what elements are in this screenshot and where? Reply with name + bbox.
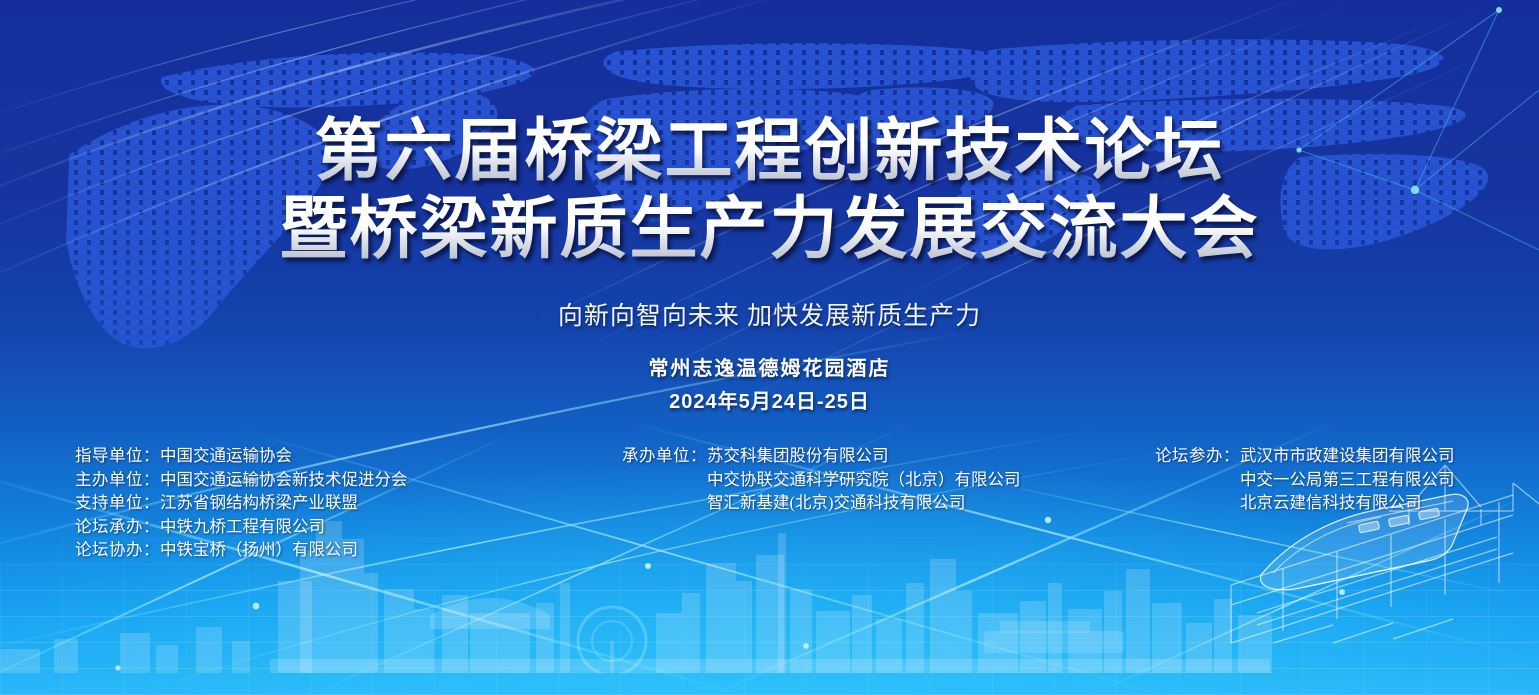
slogan: 向新向智向未来 加快发展新质生产力 — [0, 296, 1539, 332]
org-line: 论坛承办：中铁九桥工程有限公司 — [75, 515, 408, 539]
org-value: 中国交通运输协会新技术促进分会 — [160, 470, 408, 489]
event-dates: 2024年5月24日-25日 — [0, 385, 1539, 414]
org-value: 武汉市市政建设集团有限公司 — [1240, 446, 1455, 465]
org-line: 论坛参办：武汉市市政建设集团有限公司 — [1155, 444, 1455, 468]
org-column-right: 论坛参办：武汉市市政建设集团有限公司 中交一公局第三工程有限公司 北京云建信科技… — [1155, 444, 1455, 515]
org-value: 中交协联交通科学研究院（北京）有限公司 — [707, 470, 1021, 489]
conference-banner: 第六届桥梁工程创新技术论坛 暨桥梁新质生产力发展交流大会 向新向智向未来 加快发… — [0, 0, 1539, 695]
venue-block: 常州志逸温德姆花园酒店 2024年5月24日-25日 — [0, 352, 1539, 414]
org-line: 中交一公局第三工程有限公司 — [1155, 468, 1455, 492]
org-line: 中交协联交通科学研究院（北京）有限公司 — [622, 468, 1021, 492]
org-value: 北京云建信科技有限公司 — [1240, 493, 1422, 512]
venue-name: 常州志逸温德姆花园酒店 — [0, 352, 1539, 381]
org-label: 承办单位： — [622, 446, 707, 465]
main-title-line-1: 第六届桥梁工程创新技术论坛 — [0, 112, 1539, 190]
org-line: 承办单位：苏交科集团股份有限公司 — [622, 444, 1021, 468]
title-block: 第六届桥梁工程创新技术论坛 暨桥梁新质生产力发展交流大会 — [0, 112, 1539, 268]
org-value: 中铁九桥工程有限公司 — [160, 517, 325, 536]
organizations: 指导单位：中国交通运输协会 主办单位：中国交通运输协会新技术促进分会 支持单位：… — [0, 444, 1539, 564]
org-line: 支持单位：江苏省钢结构桥梁产业联盟 — [75, 491, 408, 515]
org-value: 智汇新基建(北京)交通科技有限公司 — [707, 493, 966, 512]
org-value: 苏交科集团股份有限公司 — [707, 446, 889, 465]
org-label: 主办单位： — [75, 470, 160, 489]
org-label: 指导单位： — [75, 446, 160, 465]
org-line: 智汇新基建(北京)交通科技有限公司 — [622, 491, 1021, 515]
main-title-line-2: 暨桥梁新质生产力发展交流大会 — [0, 190, 1539, 268]
org-column-left: 指导单位：中国交通运输协会 主办单位：中国交通运输协会新技术促进分会 支持单位：… — [75, 444, 408, 562]
org-value: 江苏省钢结构桥梁产业联盟 — [160, 493, 358, 512]
org-line: 论坛协办：中铁宝桥（扬州）有限公司 — [75, 538, 408, 562]
org-label: 支持单位： — [75, 493, 160, 512]
org-label: 论坛协办： — [75, 540, 160, 559]
org-value: 中交一公局第三工程有限公司 — [1240, 470, 1455, 489]
org-column-middle: 承办单位：苏交科集团股份有限公司 中交协联交通科学研究院（北京）有限公司 智汇新… — [622, 444, 1021, 515]
org-label: 论坛参办： — [1155, 446, 1240, 465]
org-label: 论坛承办： — [75, 517, 160, 536]
org-value: 中铁宝桥（扬州）有限公司 — [160, 540, 358, 559]
org-line: 北京云建信科技有限公司 — [1155, 491, 1455, 515]
org-line: 主办单位：中国交通运输协会新技术促进分会 — [75, 468, 408, 492]
org-line: 指导单位：中国交通运输协会 — [75, 444, 408, 468]
org-value: 中国交通运输协会 — [160, 446, 292, 465]
